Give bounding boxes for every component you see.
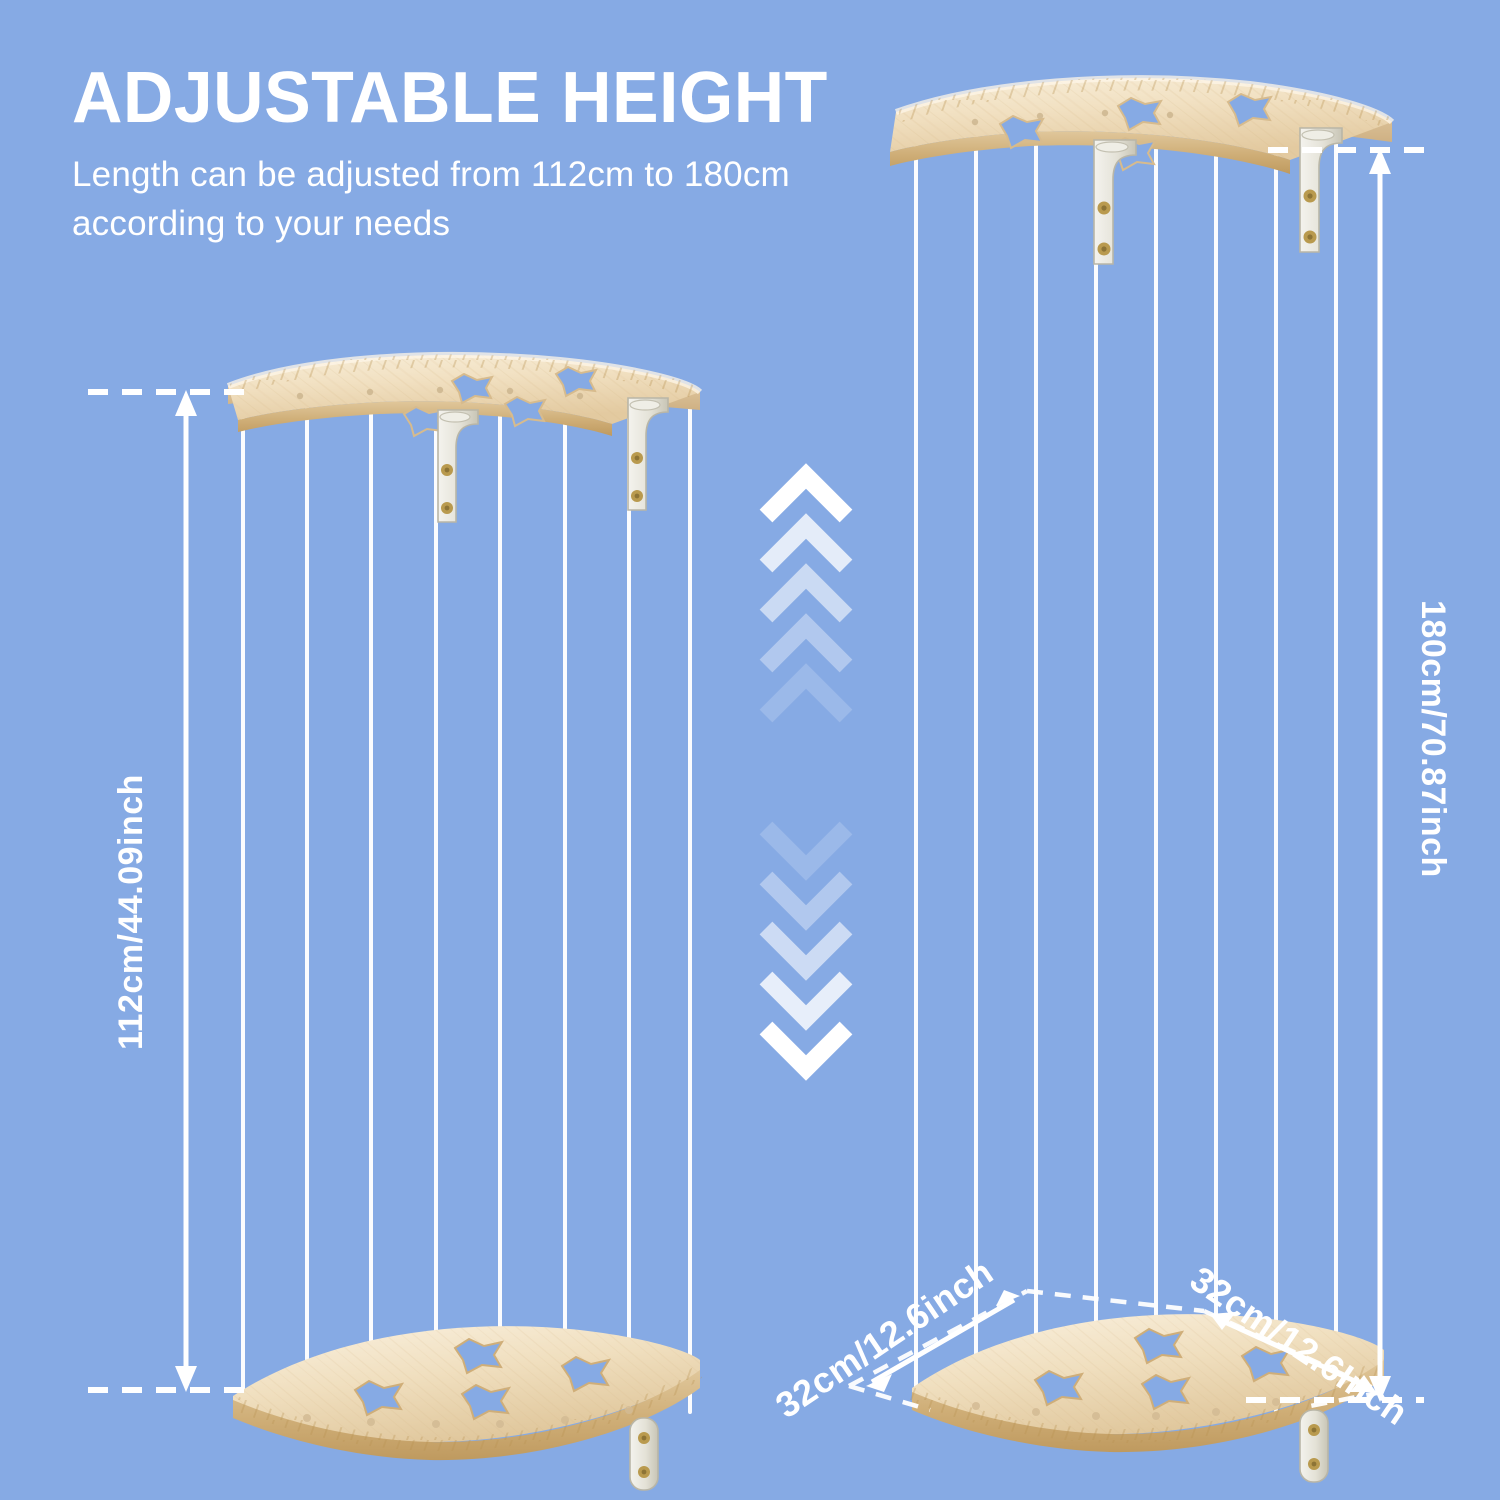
measurement-label-left-height: 112cm/44.09inch	[112, 774, 151, 1050]
infographic-canvas: ADJUSTABLE HEIGHT Length can be adjusted…	[0, 0, 1500, 1500]
left-bottom-bracket	[630, 1418, 658, 1490]
measurement-label-right-height: 180cm/70.87inch	[1413, 600, 1452, 878]
page-subtitle: Length can be adjusted from 112cm to 180…	[72, 150, 802, 248]
chevron-down-stack	[766, 828, 846, 1068]
headline-block: ADJUSTABLE HEIGHT Length can be adjusted…	[72, 58, 902, 248]
right-bottom-bracket	[1300, 1410, 1328, 1482]
left-cord-group	[243, 398, 690, 1424]
left-product-assembly	[88, 355, 700, 1490]
chevron-up-stack	[766, 476, 846, 716]
right-product-assembly	[849, 78, 1424, 1482]
left-top-shelf	[228, 355, 700, 522]
left-top-bracket-a	[438, 410, 478, 522]
page-title: ADJUSTABLE HEIGHT	[72, 58, 877, 138]
left-bottom-shelf	[233, 1326, 700, 1490]
right-cord-group	[916, 128, 1336, 1418]
right-top-shelf	[890, 78, 1392, 264]
chevron-arrows-group	[766, 476, 846, 1068]
left-top-bracket-b	[628, 398, 668, 510]
